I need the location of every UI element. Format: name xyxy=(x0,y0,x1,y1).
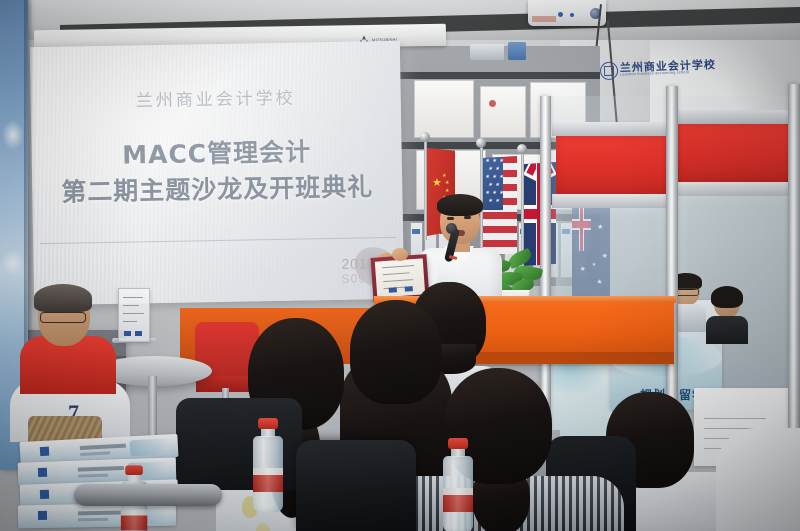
brochure xyxy=(18,503,176,529)
presenter-eye xyxy=(447,217,454,220)
school-wall-sign: 兰州商业会计学校 Lanzhou business accounting sch… xyxy=(600,56,729,82)
glasses-icon xyxy=(675,288,699,296)
paper-stack xyxy=(414,80,474,138)
panel-frame xyxy=(552,194,676,208)
bottle-cap xyxy=(258,418,278,429)
chair-armrest xyxy=(74,484,222,506)
projector-indicator-icon xyxy=(570,13,574,17)
water-bottle xyxy=(252,418,284,514)
red-signage-panel xyxy=(676,124,800,182)
presenter-eye xyxy=(464,216,471,219)
shelf-board xyxy=(400,72,600,79)
table-column xyxy=(148,376,157,442)
shelf-box xyxy=(508,42,526,60)
school-logo-icon xyxy=(600,62,619,81)
presenter-hair xyxy=(437,194,483,216)
banner-cloud xyxy=(2,120,24,150)
photo-scene: 兰州商业会计学校 Lanzhou business accounting sch… xyxy=(0,0,800,531)
slide-title-line-2: 第二期主题沙龙及开班典礼 xyxy=(32,167,403,209)
flag-finial-icon xyxy=(517,144,527,154)
audience-member xyxy=(716,418,800,531)
shelf-marker xyxy=(489,100,496,107)
panel-frame xyxy=(672,182,800,196)
shelf-box xyxy=(470,44,504,60)
flag-finial-icon xyxy=(420,132,430,142)
hand-holding-certificate xyxy=(392,248,408,261)
background-person xyxy=(706,290,748,342)
projector-label xyxy=(532,16,556,22)
bottle-cap xyxy=(448,438,468,449)
panel-frame xyxy=(672,110,800,124)
red-signage-panel xyxy=(556,136,672,194)
panel-frame xyxy=(552,122,676,136)
glasses-icon xyxy=(40,312,86,323)
projector-indicator-icon xyxy=(558,12,563,17)
banner-cloud xyxy=(1,250,25,276)
water-bottle xyxy=(442,438,474,531)
projector xyxy=(528,0,606,26)
certificate-seal xyxy=(389,287,397,293)
flag-finial-icon xyxy=(476,138,486,148)
bottle-cap xyxy=(125,465,143,475)
paper-stack xyxy=(480,86,526,138)
audience-member-left: 7 xyxy=(14,288,146,438)
projection-screen: 兰州商业会计学校 MACC管理会计 第二期主题沙龙及开班典礼 2017. S09… xyxy=(30,41,404,305)
chair-backrest xyxy=(296,440,416,531)
audience-member-foreground xyxy=(398,368,608,531)
